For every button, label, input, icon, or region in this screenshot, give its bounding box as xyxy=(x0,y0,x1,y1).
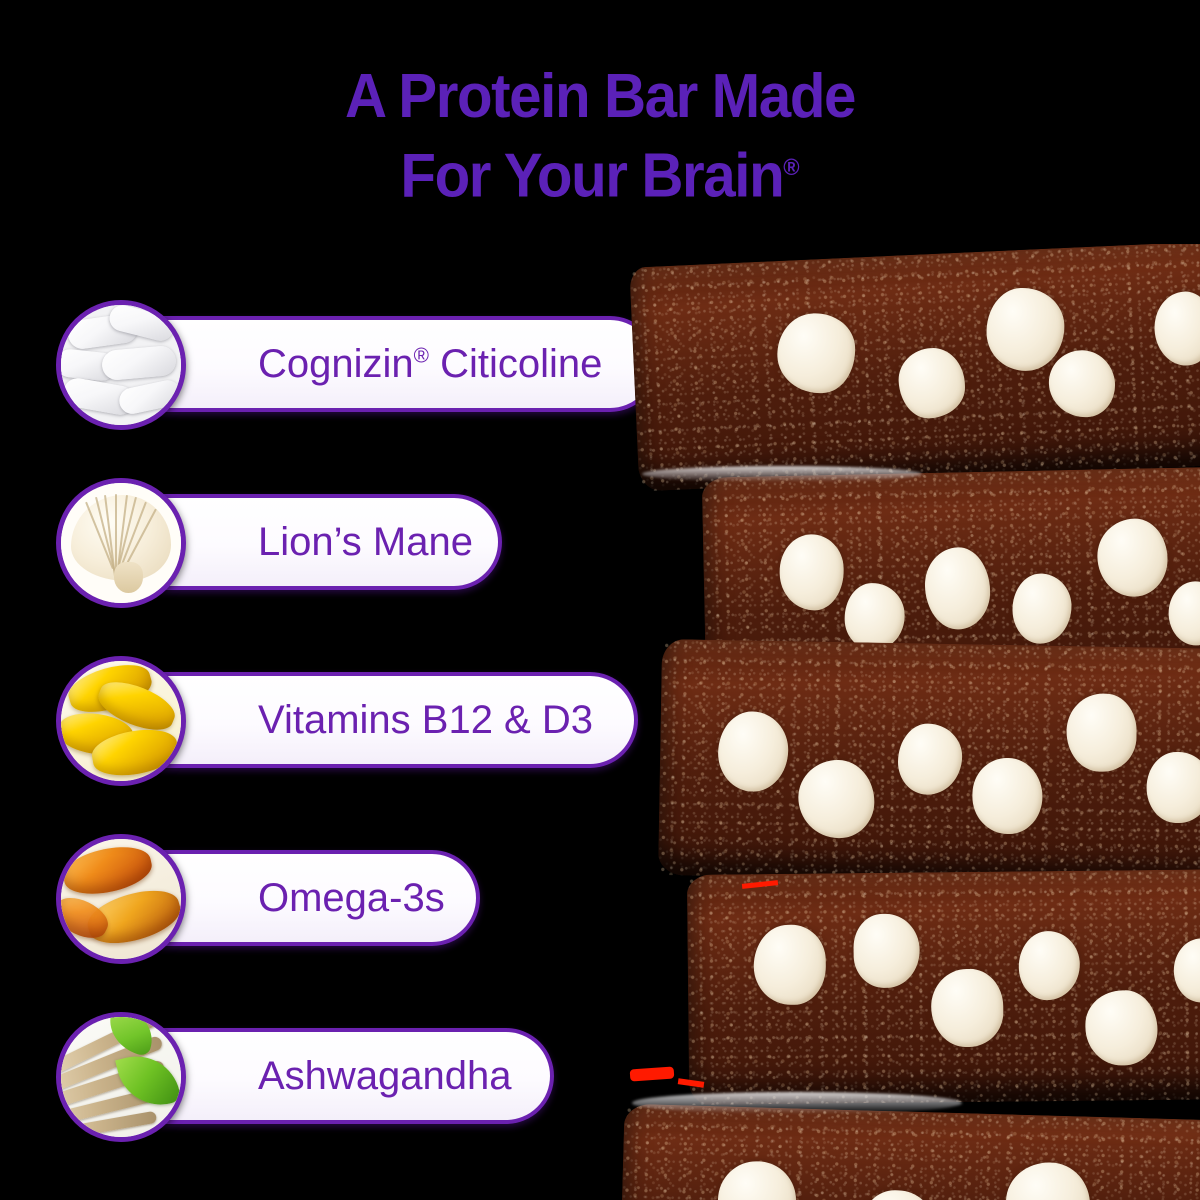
headline-line-1: A Protein Bar Made xyxy=(36,62,1164,132)
badge-pill-vitamins[interactable]: Vitamins B12 & D3 xyxy=(114,672,638,768)
stacked-protein-bars xyxy=(612,244,1200,1200)
list-item[interactable]: Vitamins B12 & D3 xyxy=(56,656,676,786)
protein-bar-slice xyxy=(629,244,1200,491)
page-title: A Protein Bar Made For Your Brain® xyxy=(36,62,1164,212)
badge-label-vitamins: Vitamins B12 & D3 xyxy=(258,700,593,740)
headline-line-2: For Your Brain® xyxy=(36,132,1164,212)
amber-softgel-icon xyxy=(56,834,186,964)
badge-label-omega3s: Omega-3s xyxy=(258,878,445,918)
badge-pill-cognizin[interactable]: Cognizin® Citicoline xyxy=(114,316,658,412)
edge-artifact xyxy=(630,1066,675,1081)
list-item[interactable]: Cognizin® Citicoline xyxy=(56,300,676,430)
list-item[interactable]: Omega-3s xyxy=(56,834,676,964)
registered-trademark-icon: ® xyxy=(783,154,799,180)
yellow-softgel-icon xyxy=(56,656,186,786)
badge-label-cognizin: Cognizin® Citicoline xyxy=(258,344,602,384)
list-item[interactable]: Ashwagandha xyxy=(56,1012,676,1142)
ashwagandha-root-icon xyxy=(56,1012,186,1142)
protein-bar-slice xyxy=(687,869,1200,1105)
protein-bar-slice xyxy=(658,639,1200,885)
badge-label-lions-mane: Lion’s Mane xyxy=(258,522,473,562)
protein-bar-slice xyxy=(620,1104,1200,1200)
ingredient-badge-list: Cognizin® Citicoline Lion’s Mane xyxy=(56,300,676,1190)
list-item[interactable]: Lion’s Mane xyxy=(56,478,676,608)
registered-trademark-icon: ® xyxy=(414,345,429,368)
badge-label-ashwagandha: Ashwagandha xyxy=(258,1056,512,1096)
capsules-icon xyxy=(56,300,186,430)
promo-graphic: A Protein Bar Made For Your Brain® Cogni… xyxy=(0,0,1200,1200)
headline-line-2-text: For Your Brain xyxy=(400,142,783,211)
lions-mane-mushroom-icon xyxy=(56,478,186,608)
